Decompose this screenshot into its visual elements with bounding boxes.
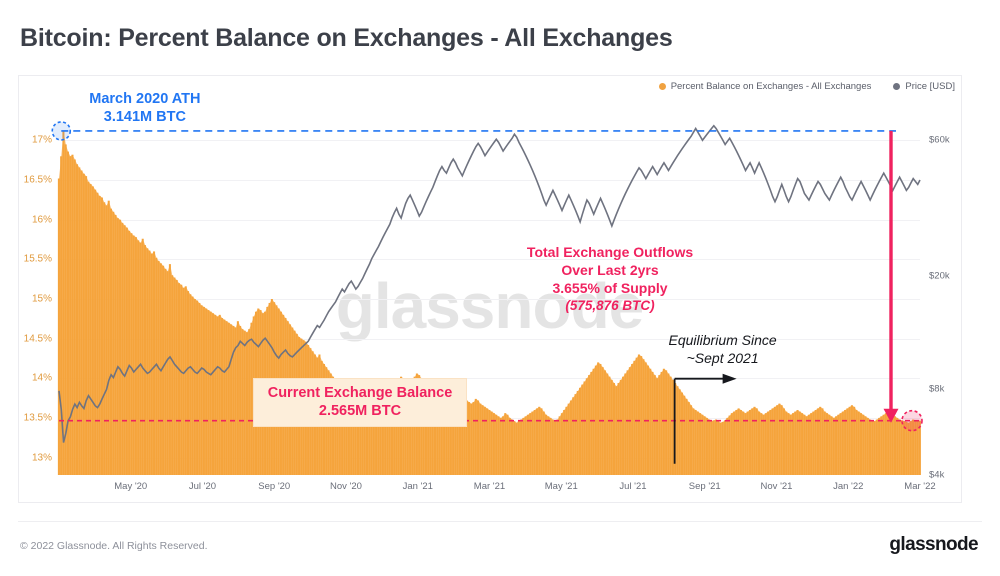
x-tick: Jul '20 bbox=[189, 481, 216, 492]
x-tick: Sep '20 bbox=[258, 481, 290, 492]
chart-legend: Percent Balance on Exchanges - All Excha… bbox=[659, 81, 955, 92]
equilibrium-line1: Equilibrium Since bbox=[669, 332, 777, 350]
y-tick-left: 14% bbox=[32, 373, 52, 384]
legend-item-price[interactable]: Price [USD] bbox=[893, 81, 955, 92]
plot-area: glassnode 17%16.5%16%15.5%15%14.5%14%13.… bbox=[59, 123, 920, 475]
y-tick-right: $8k bbox=[929, 384, 944, 395]
y-tick-left: 17% bbox=[32, 135, 52, 146]
x-tick: Jul '21 bbox=[619, 481, 646, 492]
legend-label-price: Price [USD] bbox=[905, 81, 955, 92]
y-tick-left: 14.5% bbox=[24, 333, 52, 344]
outflows-line2: Over Last 2yrs bbox=[527, 261, 693, 279]
annotation-overlay bbox=[59, 123, 920, 475]
current-balance-line1: Current Exchange Balance bbox=[268, 384, 453, 402]
x-tick: May '20 bbox=[114, 481, 147, 492]
x-tick: Mar '21 bbox=[474, 481, 505, 492]
outflows-line3: 3.655% of Supply bbox=[527, 279, 693, 297]
footer-divider bbox=[18, 521, 982, 522]
legend-label-percent-balance: Percent Balance on Exchanges - All Excha… bbox=[671, 81, 872, 92]
page-title: Bitcoin: Percent Balance on Exchanges - … bbox=[20, 24, 673, 53]
equilibrium-line2: ~Sept 2021 bbox=[669, 350, 777, 368]
legend-item-percent-balance[interactable]: Percent Balance on Exchanges - All Excha… bbox=[659, 81, 872, 92]
current-balance-annotation: Current Exchange Balance 2.565M BTC bbox=[253, 378, 468, 427]
x-tick: Mar '22 bbox=[904, 481, 935, 492]
x-tick: Nov '21 bbox=[761, 481, 793, 492]
x-tick: Jan '21 bbox=[403, 481, 433, 492]
outflows-line4: (575,876 BTC) bbox=[527, 297, 693, 315]
ath-line1: March 2020 ATH bbox=[89, 91, 200, 109]
grey-dot-icon bbox=[893, 83, 900, 90]
chart-panel: Percent Balance on Exchanges - All Excha… bbox=[18, 75, 962, 503]
y-tick-left: 15% bbox=[32, 294, 52, 305]
ath-annotation: March 2020 ATH 3.141M BTC bbox=[89, 91, 200, 126]
y-tick-left: 13.5% bbox=[24, 412, 52, 423]
orange-dot-icon bbox=[659, 83, 666, 90]
footer-copyright: © 2022 Glassnode. All Rights Reserved. bbox=[20, 540, 208, 552]
equilibrium-annotation: Equilibrium Since ~Sept 2021 bbox=[669, 332, 777, 368]
x-tick: Sep '21 bbox=[689, 481, 721, 492]
ath-line2: 3.141M BTC bbox=[89, 109, 200, 127]
y-tick-left: 16.5% bbox=[24, 175, 52, 186]
x-tick: May '21 bbox=[545, 481, 578, 492]
outflows-annotation: Total Exchange Outflows Over Last 2yrs 3… bbox=[527, 243, 693, 315]
current-balance-line2: 2.565M BTC bbox=[268, 402, 453, 420]
footer-logo: glassnode bbox=[889, 534, 978, 556]
outflows-line1: Total Exchange Outflows bbox=[527, 243, 693, 261]
equilibrium-arrow-head bbox=[723, 374, 737, 384]
y-tick-left: 16% bbox=[32, 214, 52, 225]
x-tick: Nov '20 bbox=[330, 481, 362, 492]
ath-marker-circle bbox=[52, 122, 70, 140]
x-tick: Jan '22 bbox=[833, 481, 863, 492]
y-tick-left: 15.5% bbox=[24, 254, 52, 265]
y-tick-left: 13% bbox=[32, 452, 52, 463]
y-tick-right: $60k bbox=[929, 135, 950, 146]
y-tick-right: $4k bbox=[929, 470, 944, 481]
y-tick-right: $20k bbox=[929, 271, 950, 282]
current-marker-circle bbox=[902, 411, 922, 431]
